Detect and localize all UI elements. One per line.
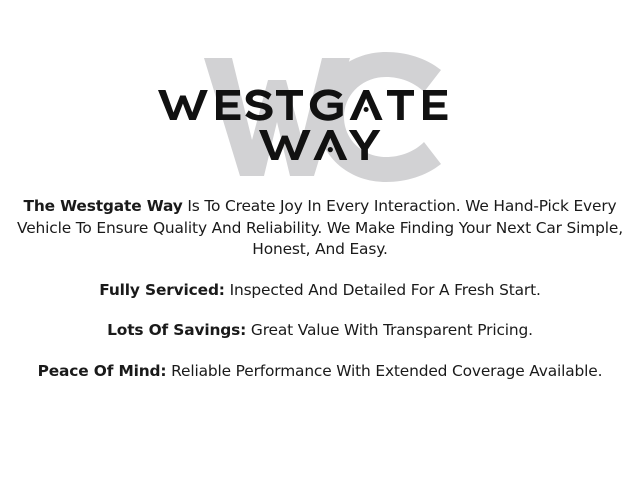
logo-line-way: WAY WC [0,128,640,162]
feature-lead-peace-of-mind: Peace Of Mind: [38,362,167,380]
feature-lots-of-savings: Lots Of Savings: Great Value With Transp… [8,320,632,342]
feature-fully-serviced: Fully Serviced: Inspected And Detailed F… [8,280,632,302]
feature-body-peace-of-mind: Reliable Performance With Extended Cover… [166,362,602,380]
promo-copy: The Westgate Way Is To Create Joy In Eve… [8,196,632,382]
logo-text-way: WAY [381,128,382,129]
feature-lead-lots-of-savings: Lots Of Savings: [107,321,246,339]
logo-line-westgate: WESTGATE [0,88,640,122]
logo-text-westgate: WESTGATE [482,88,483,89]
logo-text-westgate-glyphs [158,88,482,122]
feature-body-lots-of-savings: Great Value With Transparent Pricing. [246,321,533,339]
logo-block: WESTGATE WAY WC [0,52,640,182]
paragraph-intro: The Westgate Way Is To Create Joy In Eve… [8,196,632,261]
promo-page: WESTGATE WAY WC [0,0,640,480]
feature-lead-fully-serviced: Fully Serviced: [99,281,225,299]
watermark-letters: WC [381,128,382,129]
intro-lead: The Westgate Way [24,197,183,215]
logo-text-way-glyphs [259,128,381,162]
feature-peace-of-mind: Peace Of Mind: Reliable Performance With… [8,361,632,383]
logo-wordmark: WESTGATE WAY WC [0,52,640,182]
feature-body-fully-serviced: Inspected And Detailed For A Fresh Start… [225,281,541,299]
